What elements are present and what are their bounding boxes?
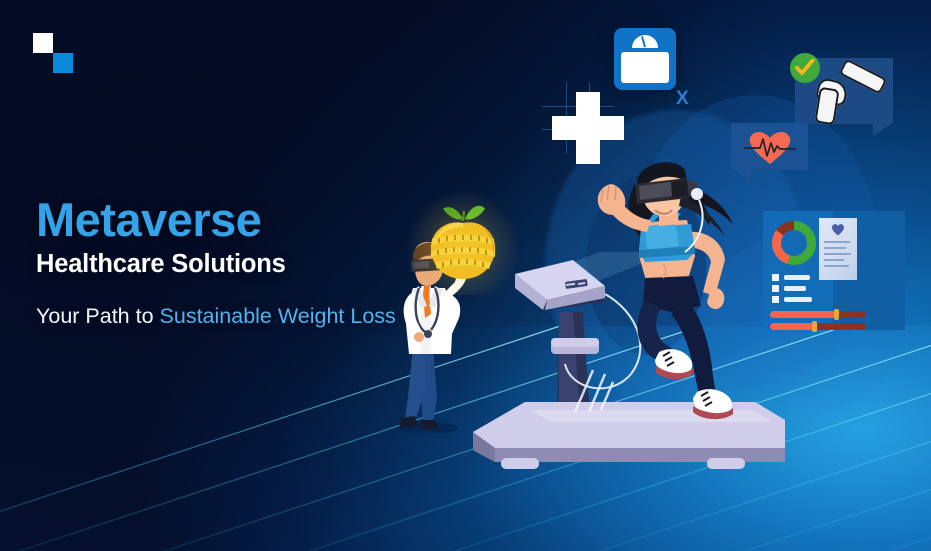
- logo-square-white: [33, 33, 53, 53]
- tagline: Your Path to Sustainable Weight Loss: [36, 301, 416, 332]
- x-marker-icon: X: [676, 88, 689, 110]
- logo-square-blue: [53, 53, 73, 73]
- green-check-badge-icon: [790, 53, 820, 83]
- page-subtitle: Healthcare Solutions: [36, 251, 416, 278]
- headline-block: Metaverse Healthcare Solutions Your Path…: [36, 196, 416, 331]
- heart-icon: [831, 223, 845, 236]
- weight-scale-icon: [614, 28, 676, 90]
- tagline-highlight: Sustainable Weight Loss: [160, 304, 396, 328]
- knee-xray-card-icon: [795, 58, 893, 136]
- brand-logo[interactable]: [33, 33, 75, 75]
- page-title: Metaverse: [36, 196, 416, 244]
- report-card: [819, 218, 857, 280]
- measuring-tape-apple: [423, 201, 503, 283]
- banner-stage: Metaverse Healthcare Solutions Your Path…: [0, 0, 931, 551]
- woman-running-avatar: [575, 160, 760, 430]
- medical-cross-icon: [552, 92, 624, 164]
- tagline-plain: Your Path to: [36, 304, 160, 328]
